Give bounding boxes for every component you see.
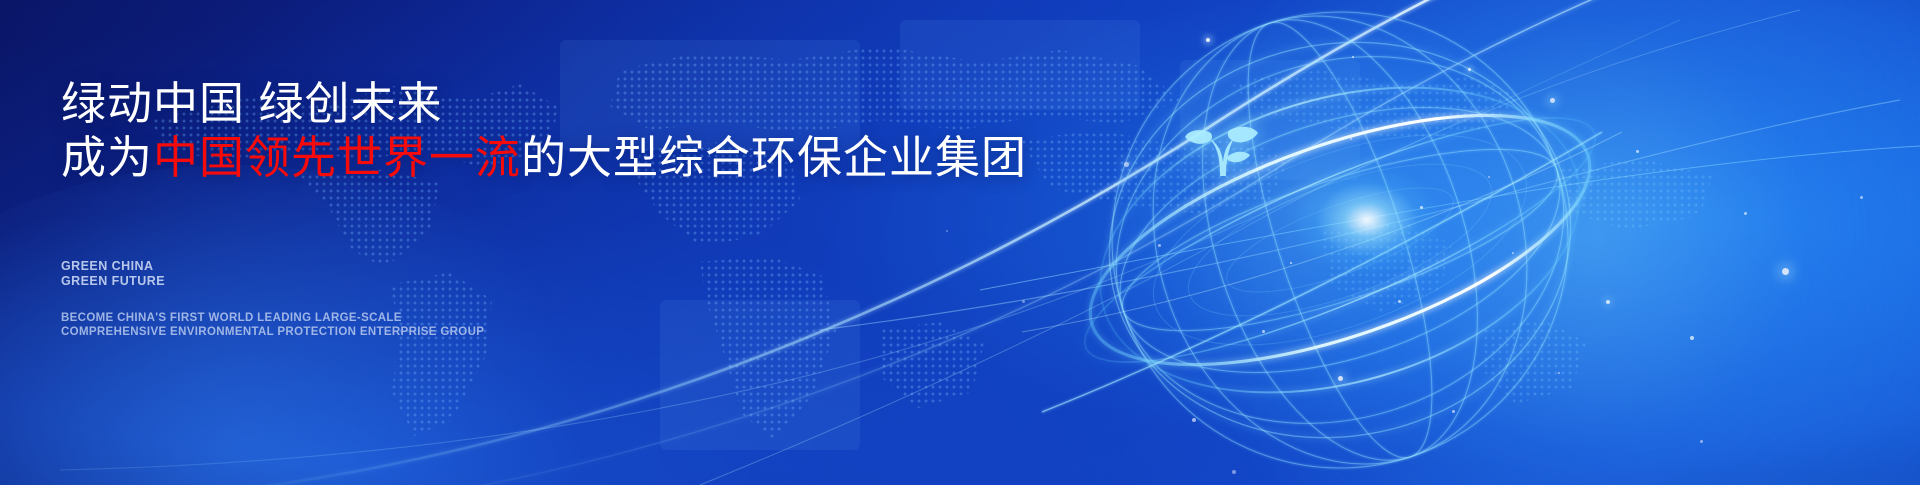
tagline-en-line-2: COMPREHENSIVE ENVIRONMENTAL PROTECTION E… bbox=[61, 326, 484, 340]
headline-line-2-suffix: 的大型综合环保企业集团 bbox=[521, 132, 1027, 183]
headline-line-1: 绿动中国 绿创未来 bbox=[61, 81, 443, 126]
banner-copy: 绿动中国 绿创未来 成为中国领先世界一流的大型综合环保企业集团 GREEN CH… bbox=[61, 0, 1061, 485]
headline-line-2-highlight: 中国领先世界一流 bbox=[153, 132, 521, 183]
subtitle-en-line-1: GREEN CHINA bbox=[61, 259, 165, 274]
tagline-en-line-1: BECOME CHINA'S FIRST WORLD LEADING LARGE… bbox=[61, 312, 484, 326]
subtitle-en-line-2: GREEN FUTURE bbox=[61, 274, 165, 289]
headline-line-2-prefix: 成为 bbox=[61, 132, 153, 183]
headline-line-2: 成为中国领先世界一流的大型综合环保企业集团 bbox=[61, 135, 1027, 180]
tagline-en: BECOME CHINA'S FIRST WORLD LEADING LARGE… bbox=[61, 312, 484, 339]
subtitle-en: GREEN CHINA GREEN FUTURE bbox=[61, 259, 165, 288]
hero-banner: 绿动中国 绿创未来 成为中国领先世界一流的大型综合环保企业集团 GREEN CH… bbox=[0, 0, 1920, 485]
